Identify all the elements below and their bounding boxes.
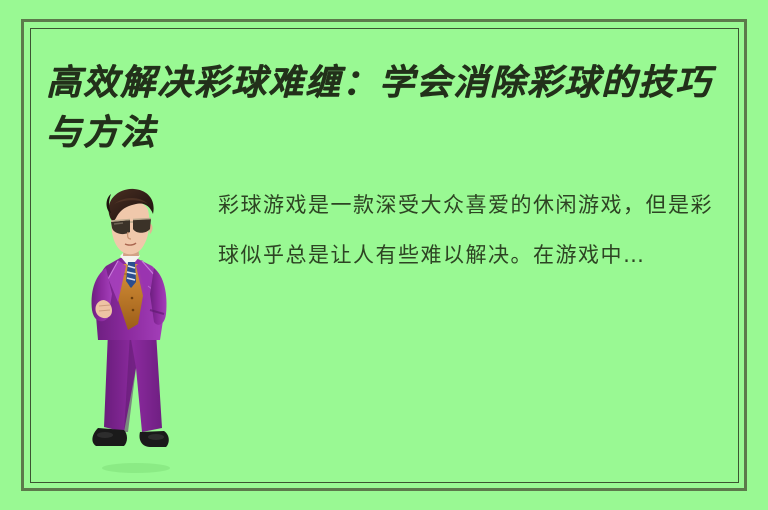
article-body: 彩球游戏是一款深受大众喜爱的休闲游戏，但是彩球似乎总是让人有些难以解决。在游戏中… bbox=[218, 180, 728, 280]
article-card: 高效解决彩球难缠：学会消除彩球的技巧与方法 bbox=[0, 0, 768, 510]
caricature-svg bbox=[78, 182, 188, 474]
man-in-purple-suit-illustration bbox=[78, 182, 188, 474]
page-title: 高效解决彩球难缠：学会消除彩球的技巧与方法 bbox=[46, 58, 736, 158]
